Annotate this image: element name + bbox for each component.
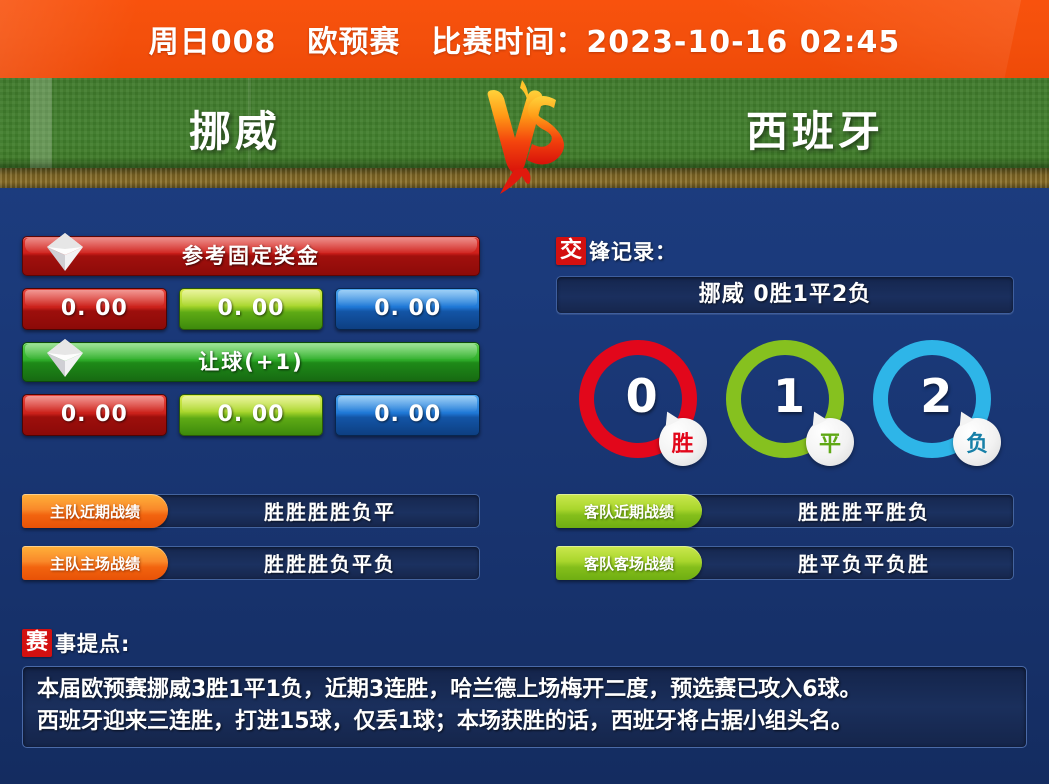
odds-panel: 参考固定奖金 0. 00 0. 00 0. 00 让球(+1) 0. 00 0.… [22,236,480,448]
h2h-summary: 挪威 0胜1平2负 [556,276,1014,314]
home-recent-form-row: 胜胜胜胜负平 主队近期战绩 [22,494,480,528]
handicap-odds-draw[interactable]: 0. 00 [179,394,324,436]
home-home-form-label: 主队主场战绩 [50,553,140,574]
h2h-draw-count: 1 [773,373,805,419]
header-bar: 周日008 欧预赛 比赛时间：2023-10-16 02:45 [0,0,1049,78]
away-recent-form-row: 胜胜胜平胜负 客队近期战绩 [556,494,1014,528]
home-recent-form-label: 主队近期战绩 [50,501,140,522]
h2h-win-badge: 胜 [659,418,707,466]
handicap-odds-away-win[interactable]: 0. 00 [335,394,480,436]
h2h-draw-badge: 平 [806,418,854,466]
fixed-bonus-title-bar: 参考固定奖金 [22,236,480,276]
away-away-form-row: 胜平负平负胜 客队客场战绩 [556,546,1014,580]
analysis-line: 本届欧预赛挪威3胜1平1负，近期3连胜，哈兰德上场梅开二度，预选赛已攻入6球。 [37,674,1012,706]
h2h-header: 交 锋记录： [556,236,1014,266]
home-home-form-value: 胜胜胜负平负 [138,546,480,580]
h2h-ring-draw: 1 平 [726,340,844,458]
header-title: 周日008 欧预赛 比赛时间：2023-10-16 02:45 [0,0,1049,78]
h2h-win-count: 0 [626,373,658,419]
fixed-bonus-title: 参考固定奖金 [23,237,479,275]
h2h-chip-icon: 交 [556,237,586,265]
handicap-odds-home-win[interactable]: 0. 00 [22,394,167,436]
h2h-ring-loss: 2 负 [873,340,991,458]
h2h-loss-count: 2 [920,373,952,419]
h2h-loss-badge: 负 [953,418,1001,466]
analysis-header: 赛 事提点: [22,628,130,658]
away-form-section: 胜胜胜平胜负 客队近期战绩 胜平负平负胜 客队客场战绩 [556,494,1014,598]
away-recent-form-value: 胜胜胜平胜负 [672,494,1014,528]
odds-home-win[interactable]: 0. 00 [22,288,167,330]
home-recent-form-value: 胜胜胜胜负平 [138,494,480,528]
home-home-form-row: 胜胜胜负平负 主队主场战绩 [22,546,480,580]
home-team-name: 挪威 [0,98,470,159]
odds-away-win[interactable]: 0. 00 [335,288,480,330]
home-home-form-tag: 主队主场战绩 [22,546,168,580]
away-recent-form-tag: 客队近期战绩 [556,494,702,528]
match-preview-card: 周日008 欧预赛 比赛时间：2023-10-16 02:45 挪威 西班牙 [0,0,1049,784]
analysis-line: 西班牙迎来三连胜，打进15球，仅丢1球；本场获胜的话，西班牙将占据小组头名。 [37,706,1012,738]
odds-draw[interactable]: 0. 00 [179,288,324,330]
home-recent-form-tag: 主队近期战绩 [22,494,168,528]
diamond-icon [43,229,87,273]
h2h-panel: 交 锋记录： 挪威 0胜1平2负 0 胜 1 平 2 负 [556,236,1014,458]
handicap-title-bar: 让球(+1) [22,342,480,382]
vs-flame-icon [470,78,580,196]
away-away-form-tag: 客队客场战绩 [556,546,702,580]
handicap-odds-row: 0. 00 0. 00 0. 00 [22,394,480,436]
away-away-form-value: 胜平负平负胜 [672,546,1014,580]
h2h-header-label: 锋记录： [589,236,677,266]
analysis-box: 本届欧预赛挪威3胜1平1负，近期3连胜，哈兰德上场梅开二度，预选赛已攻入6球。 … [22,666,1027,748]
away-away-form-label: 客队客场战绩 [584,553,674,574]
analysis-chip-icon: 赛 [22,629,52,657]
h2h-rings: 0 胜 1 平 2 负 [556,340,1014,458]
h2h-ring-win: 0 胜 [579,340,697,458]
handicap-title: 让球(+1) [23,343,479,381]
away-recent-form-label: 客队近期战绩 [584,501,674,522]
home-form-section: 胜胜胜胜负平 主队近期战绩 胜胜胜负平负 主队主场战绩 [22,494,480,598]
fixed-bonus-odds-row: 0. 00 0. 00 0. 00 [22,288,480,330]
analysis-header-label: 事提点: [55,628,130,658]
diamond-icon [43,335,87,379]
away-team-name: 西班牙 [580,98,1049,159]
